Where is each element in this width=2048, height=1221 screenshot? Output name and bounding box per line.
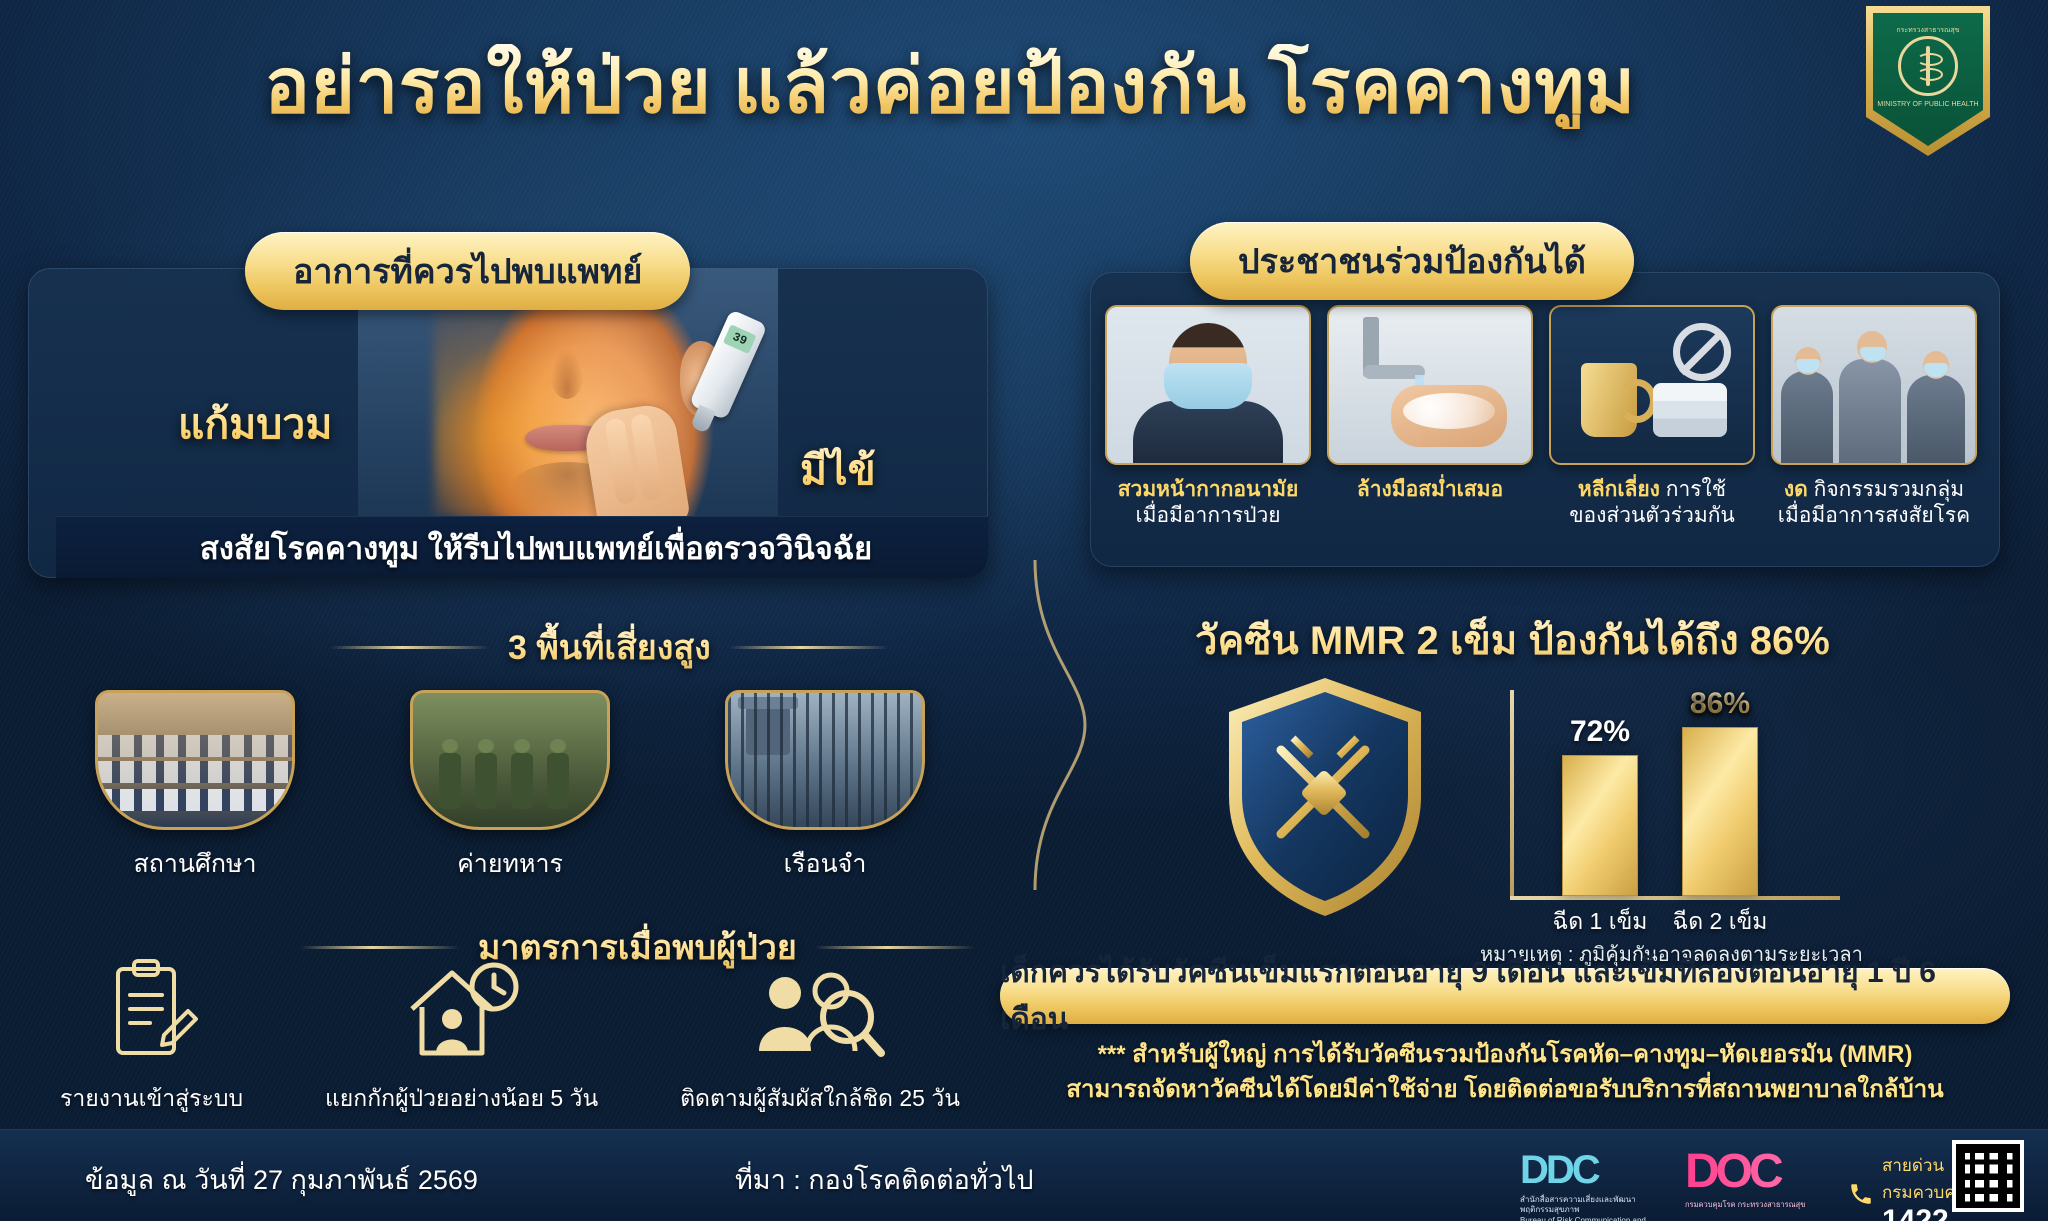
clipboard-pencil-icon: [60, 955, 243, 1065]
prevention-label-2: ล้างมือสม่ำเสมอ: [1327, 477, 1533, 503]
prevention-item-handwash: ล้างมือสม่ำเสมอ: [1327, 305, 1533, 528]
no-gathering-photo-icon: [1771, 305, 1977, 465]
chart-bar-1: [1562, 755, 1638, 896]
vaccine-title: วัคซีน MMR 2 เข็ม ป้องกันได้ถึง 86%: [1195, 608, 1830, 672]
prevention-item-no-gathering: งด กิจกรรมรวมกลุ่ม เมื่อมีอาการสงสัยโรค: [1771, 305, 1977, 528]
prevention-sublabel-3: ของส่วนตัวร่วมกัน: [1549, 503, 1755, 529]
handwash-photo-icon: [1327, 305, 1533, 465]
vaccine-bar-chart: 72% 86% ฉีด 1 เข็ม ฉีด 2 เข็ม: [1510, 672, 1910, 912]
measure-label-report: รายงานเข้าสู่ระบบ: [60, 1081, 243, 1117]
chart-value-2: 86%: [1660, 687, 1780, 721]
footer-bar: ข้อมูล ณ วันที่ 27 กุมภาพันธ์ 2569 ที่มา…: [0, 1129, 2048, 1221]
no-sharing-photo-icon: [1549, 305, 1755, 465]
home-isolation-clock-icon: [325, 955, 598, 1065]
risk-areas-row: สถานศึกษา ค่ายทหาร เรือนจำ: [95, 690, 925, 884]
risk-item-prison: เรือนจำ: [725, 690, 925, 884]
risk-label-prison: เรือนจำ: [725, 844, 925, 884]
doc-logo-sub: กรมควบคุมโรค กระทรวงสาธารณสุข: [1685, 1200, 1835, 1210]
shield-syringe-icon: [1215, 672, 1435, 922]
doc-logo: DOC กรมควบคุมโรค กระทรวงสาธารณสุข: [1685, 1144, 1835, 1210]
symptom-card: สงสัยโรคคางทูม ให้รีบไปพบแพทย์เพื่อตรวจว…: [28, 268, 988, 578]
chart-label-2: ฉีด 2 เข็ม: [1660, 904, 1780, 940]
chart-value-1: 72%: [1540, 715, 1660, 749]
risk-item-military: ค่ายทหาร: [410, 690, 610, 884]
prevention-sublabel-1: เมื่อมีอาการป่วย: [1105, 503, 1311, 529]
label-fever: มีไข้: [800, 438, 876, 503]
prevention-label-4b: กิจกรรมรวมกลุ่ม: [1808, 478, 1964, 501]
footer-source: ที่มา : กองโรคติดต่อทั่วไป: [735, 1158, 1034, 1201]
adult-note-line-2: สามารถจัดหาวัคซีนได้โดยมีค่าใช้จ่าย โดยต…: [1000, 1073, 2010, 1108]
symptom-header-pill: อาการที่ควรไปพบแพทย์: [245, 232, 690, 310]
prevention-header-pill: ประชาชนร่วมป้องกันได้: [1190, 222, 1634, 300]
child-vaccine-pill: เด็กควรได้รับวัคซีนเข็มแรกตอนอายุ 9 เดือ…: [1000, 968, 2010, 1024]
prevention-items: สวมหน้ากากอนามัย เมื่อมีอาการป่วย ล้างมื…: [1105, 305, 1995, 528]
prison-photo-icon: [725, 690, 925, 830]
section-divider: [1030, 560, 1090, 890]
risk-areas-heading: 3 พื้นที่เสี่ยงสูง: [330, 620, 889, 674]
symptom-caption: สงสัยโรคคางทูม ให้รีบไปพบแพทย์เพื่อตรวจว…: [56, 516, 988, 578]
measures-row: รายงานเข้าสู่ระบบ แยกกักผู้ป่วยอย่างน้อย…: [60, 955, 960, 1117]
measure-item-report: รายงานเข้าสู่ระบบ: [60, 955, 243, 1117]
doc-logo-mark: DOC: [1685, 1144, 1835, 1199]
ddc-logo: DDC สำนักสื่อสารความเสี่ยงและพัฒนาพฤติกร…: [1520, 1148, 1660, 1221]
risk-label-school: สถานศึกษา: [95, 844, 295, 884]
chart-x-axis: [1510, 896, 1840, 900]
adult-vaccine-note: *** สำหรับผู้ใหญ่ การได้รับวัคซีนรวมป้อง…: [1000, 1038, 2010, 1108]
footer-date: ข้อมูล ณ วันที่ 27 กุมภาพันธ์ 2569: [85, 1158, 478, 1201]
adult-note-line-1: *** สำหรับผู้ใหญ่ การได้รับวัคซีนรวมป้อง…: [1000, 1038, 2010, 1073]
phone-icon: [1848, 1181, 1874, 1207]
school-photo-icon: [95, 690, 295, 830]
mask-photo-icon: [1105, 305, 1311, 465]
prevention-label-3b: การใช้: [1660, 478, 1726, 501]
symptom-header-label: อาการที่ควรไปพบแพทย์: [245, 232, 690, 310]
risk-areas-heading-label: 3 พื้นที่เสี่ยงสูง: [508, 620, 711, 674]
page-title: อย่ารอให้ป่วย แล้วค่อยป้องกัน โรคคางทูม: [0, 44, 1900, 129]
chart-bar-2: [1682, 727, 1758, 896]
prevention-item-mask: สวมหน้ากากอนามัย เมื่อมีอาการป่วย: [1105, 305, 1311, 528]
risk-label-military: ค่ายทหาร: [410, 844, 610, 884]
infographic-page: กระทรวงสาธารณสุข MINISTRY OF PUBLIC HEAL…: [0, 0, 2048, 1221]
measure-label-tracing: ติดตามผู้สัมผัสใกล้ชิด 25 วัน: [680, 1081, 960, 1117]
ddc-logo-sub: สำนักสื่อสารความเสี่ยงและพัฒนาพฤติกรรมสุ…: [1520, 1195, 1660, 1221]
measure-label-isolation: แยกกักผู้ป่วยอย่างน้อย 5 วัน: [325, 1081, 598, 1117]
prevention-sublabel-4: เมื่อมีอาการสงสัยโรค: [1771, 503, 1977, 529]
prevention-header-label: ประชาชนร่วมป้องกันได้: [1190, 222, 1634, 300]
prevention-label-3: หลีกเลี่ยง: [1578, 478, 1660, 501]
chart-label-1: ฉีด 1 เข็ม: [1540, 904, 1660, 940]
ddc-logo-mark: DDC: [1520, 1148, 1660, 1193]
contact-tracing-magnifier-icon: [680, 955, 960, 1065]
thermometer-reading: 39: [730, 330, 749, 349]
prevention-label-4: งด: [1784, 478, 1808, 501]
risk-item-school: สถานศึกษา: [95, 690, 295, 884]
military-camp-photo-icon: [410, 690, 610, 830]
measure-item-tracing: ติดตามผู้สัมผัสใกล้ชิด 25 วัน: [680, 955, 960, 1117]
prevention-item-no-sharing: หลีกเลี่ยง การใช้ ของส่วนตัวร่วมกัน: [1549, 305, 1755, 528]
page-title-wrap: อย่ารอให้ป่วย แล้วค่อยป้องกัน โรคคางทูม: [0, 44, 1900, 129]
prevention-label-1: สวมหน้ากากอนามัย: [1105, 477, 1311, 503]
emblem-caption-top: กระทรวงสาธารณสุข: [1896, 27, 1959, 36]
qr-code-icon[interactable]: [1952, 1140, 2024, 1212]
measure-item-isolation: แยกกักผู้ป่วยอย่างน้อย 5 วัน: [325, 955, 598, 1117]
label-swollen-cheek: แก้มบวม: [178, 392, 332, 457]
chart-y-axis: [1510, 690, 1514, 900]
